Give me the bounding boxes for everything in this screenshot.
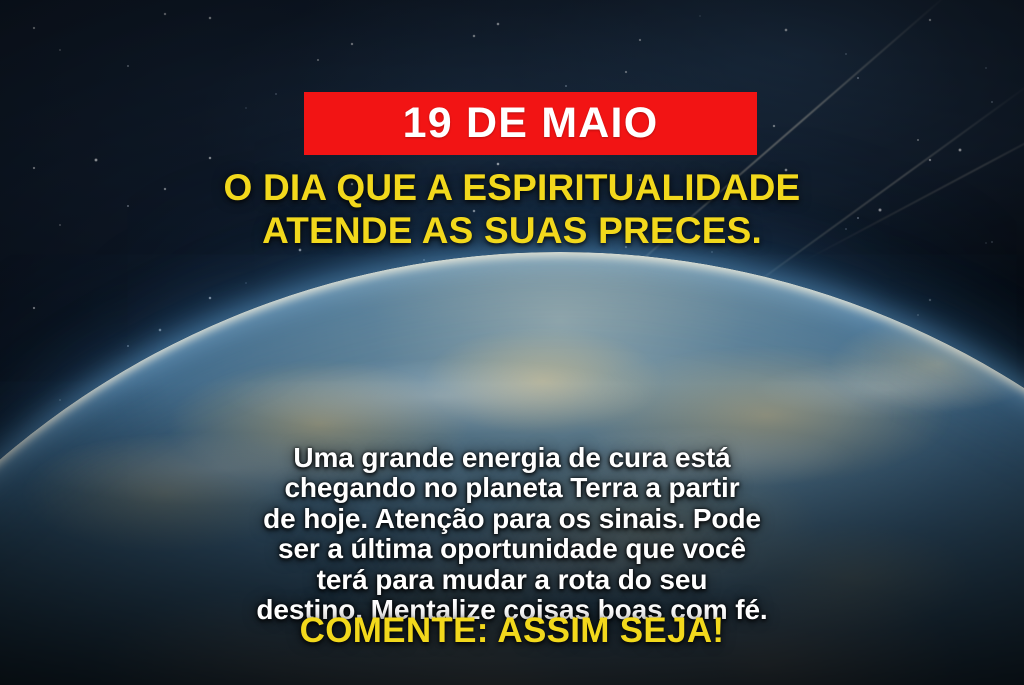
call-to-action-text: COMENTE: ASSIM SEJA! (0, 613, 1024, 648)
headline: O DIA QUE A ESPIRITUALIDADE ATENDE AS SU… (0, 166, 1024, 253)
body-copy: Uma grande energia de cura está chegando… (0, 443, 1024, 625)
body-copy-line-4: ser a última oportunidade que você (0, 534, 1024, 564)
body-copy-line-2: chegando no planeta Terra a partir (0, 473, 1024, 503)
date-banner-label: 19 DE MAIO (403, 102, 659, 145)
headline-line-1: O DIA QUE A ESPIRITUALIDADE (0, 166, 1024, 209)
poster-content: 19 DE MAIO O DIA QUE A ESPIRITUALIDADE A… (0, 0, 1024, 685)
body-copy-line-3: de hoje. Atenção para os sinais. Pode (0, 504, 1024, 534)
poster-canvas: 19 DE MAIO O DIA QUE A ESPIRITUALIDADE A… (0, 0, 1024, 685)
body-copy-line-1: Uma grande energia de cura está (0, 443, 1024, 473)
date-banner: 19 DE MAIO (304, 92, 757, 155)
headline-line-2: ATENDE AS SUAS PRECES. (0, 209, 1024, 252)
body-copy-line-5: terá para mudar a rota do seu (0, 565, 1024, 595)
